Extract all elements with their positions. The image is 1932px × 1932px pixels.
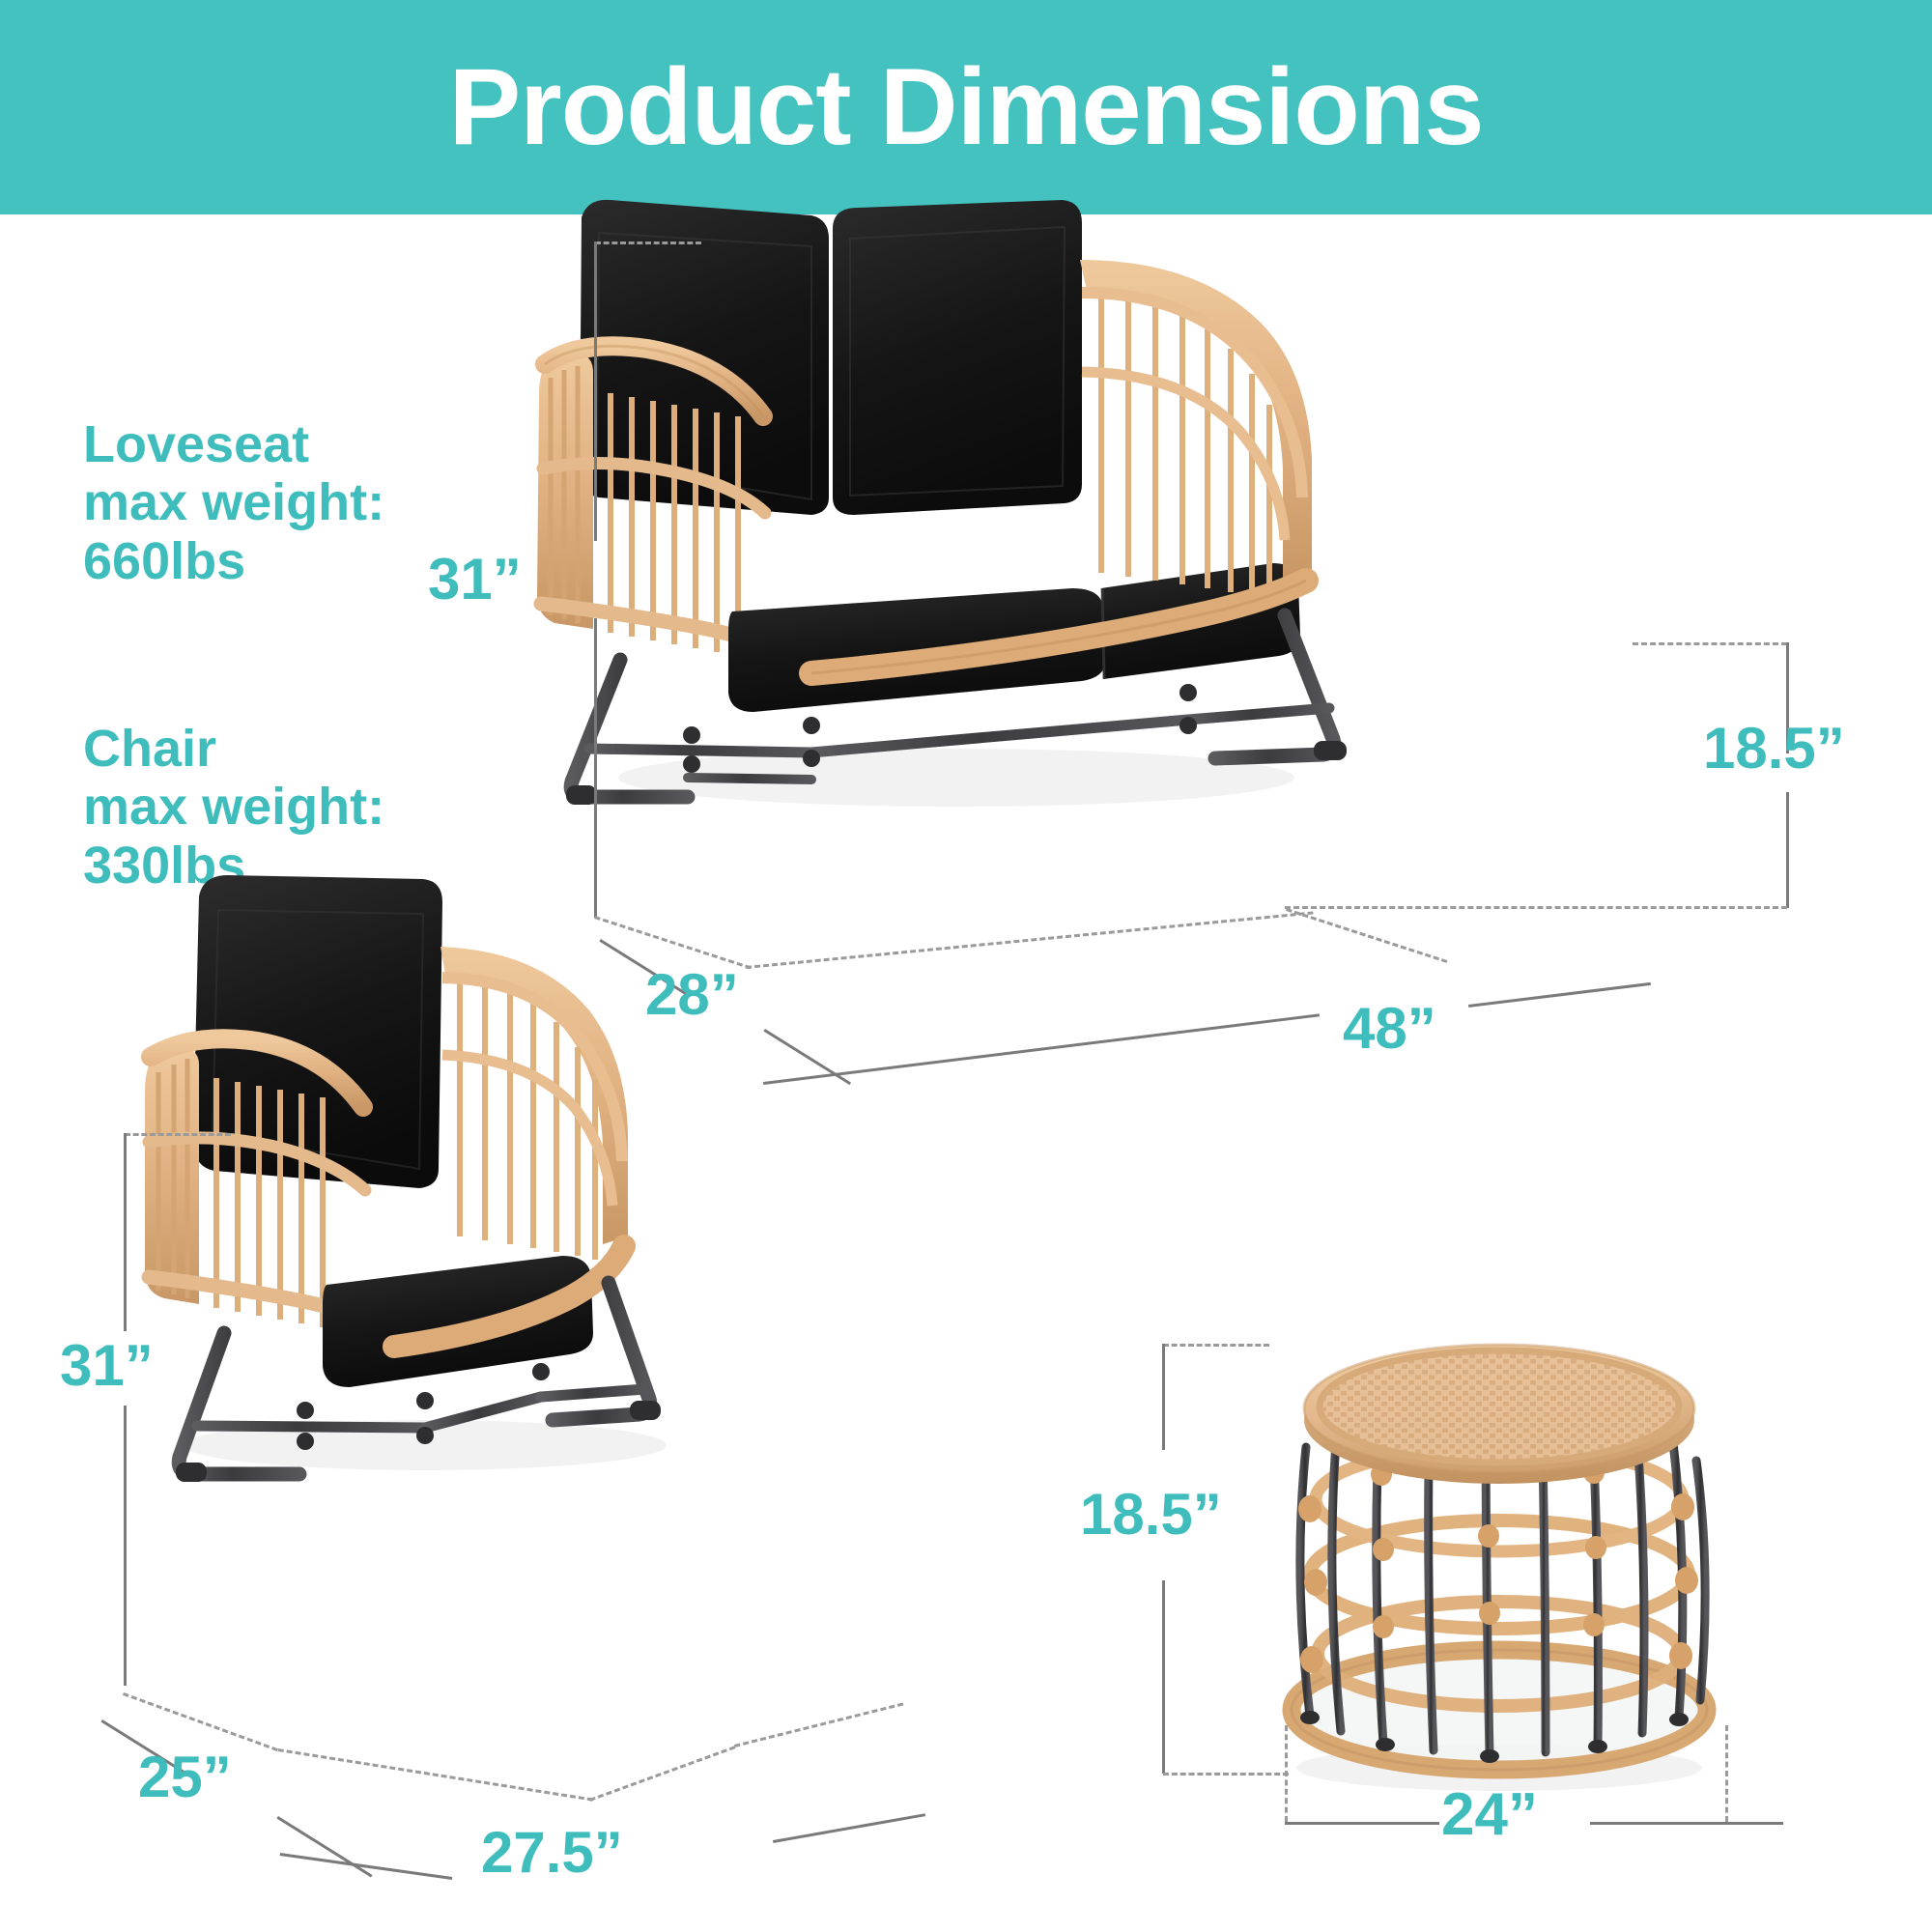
- loveseat-seat-height-bottom-dash: [1285, 906, 1787, 909]
- table-height-top-dash: [1163, 1344, 1269, 1347]
- loveseat-seat-height-top-dash: [1633, 642, 1787, 645]
- chair-height-label: 31”: [60, 1337, 154, 1395]
- infographic-canvas: Product Dimensions Loveseat max weight: …: [0, 0, 1932, 1932]
- round-table-illustration: [1246, 1285, 1748, 1797]
- table-height-line-upper: [1162, 1344, 1165, 1450]
- loveseat-width-label: 48”: [1343, 1000, 1436, 1058]
- loveseat-width-line-b: [1468, 982, 1651, 1008]
- chair-height-top-dash: [125, 1133, 231, 1136]
- loveseat-seat-height-label: 18.5”: [1703, 720, 1845, 778]
- chair-width-line-b: [773, 1813, 925, 1843]
- loveseat-illustration: [522, 179, 1372, 836]
- chair-weight-line1: Chair: [83, 720, 384, 778]
- chair-floor-dash-left: [123, 1692, 278, 1751]
- chair-floor-dash-far-right: [734, 1702, 903, 1747]
- loveseat-max-weight-block: Loveseat max weight: 660lbs: [83, 415, 384, 590]
- table-height-line-lower: [1162, 1580, 1165, 1774]
- loveseat-width-line-a: [763, 1013, 1320, 1085]
- loveseat-weight-line2: max weight:: [83, 473, 384, 531]
- chair-height-line-lower: [124, 1406, 127, 1686]
- table-width-dash-right: [1725, 1725, 1728, 1822]
- chair-depth-line-b: [276, 1816, 372, 1877]
- chair-height-line-upper: [124, 1133, 127, 1331]
- table-height-bottom-dash: [1163, 1773, 1289, 1776]
- table-width-line-right: [1590, 1822, 1783, 1825]
- chair-floor-dash-right: [589, 1746, 735, 1802]
- chair-depth-label: 25”: [138, 1748, 232, 1806]
- chair-floor-dash-front: [278, 1748, 593, 1802]
- loveseat-weight-line1: Loveseat: [83, 415, 384, 473]
- loveseat-height-top-dash: [595, 241, 701, 244]
- table-height-label: 18.5”: [1080, 1486, 1222, 1544]
- loveseat-height-label: 31”: [428, 551, 522, 609]
- table-width-dash-left: [1285, 1725, 1288, 1822]
- loveseat-height-line-upper: [594, 241, 597, 541]
- chair-illustration: [135, 850, 696, 1507]
- table-width-label: 24”: [1441, 1785, 1538, 1845]
- table-width-line-left: [1285, 1822, 1439, 1825]
- loveseat-floor-dash-right: [1286, 908, 1447, 963]
- loveseat-floor-dash-front: [746, 911, 1314, 969]
- page-title: Product Dimensions: [448, 53, 1483, 161]
- loveseat-seat-height-line-lower: [1786, 792, 1789, 908]
- chair-weight-line2: max weight:: [83, 778, 384, 836]
- chair-width-label: 27.5”: [481, 1824, 623, 1882]
- loveseat-weight-line3: 660lbs: [83, 532, 384, 590]
- chair-width-line-a: [280, 1853, 453, 1880]
